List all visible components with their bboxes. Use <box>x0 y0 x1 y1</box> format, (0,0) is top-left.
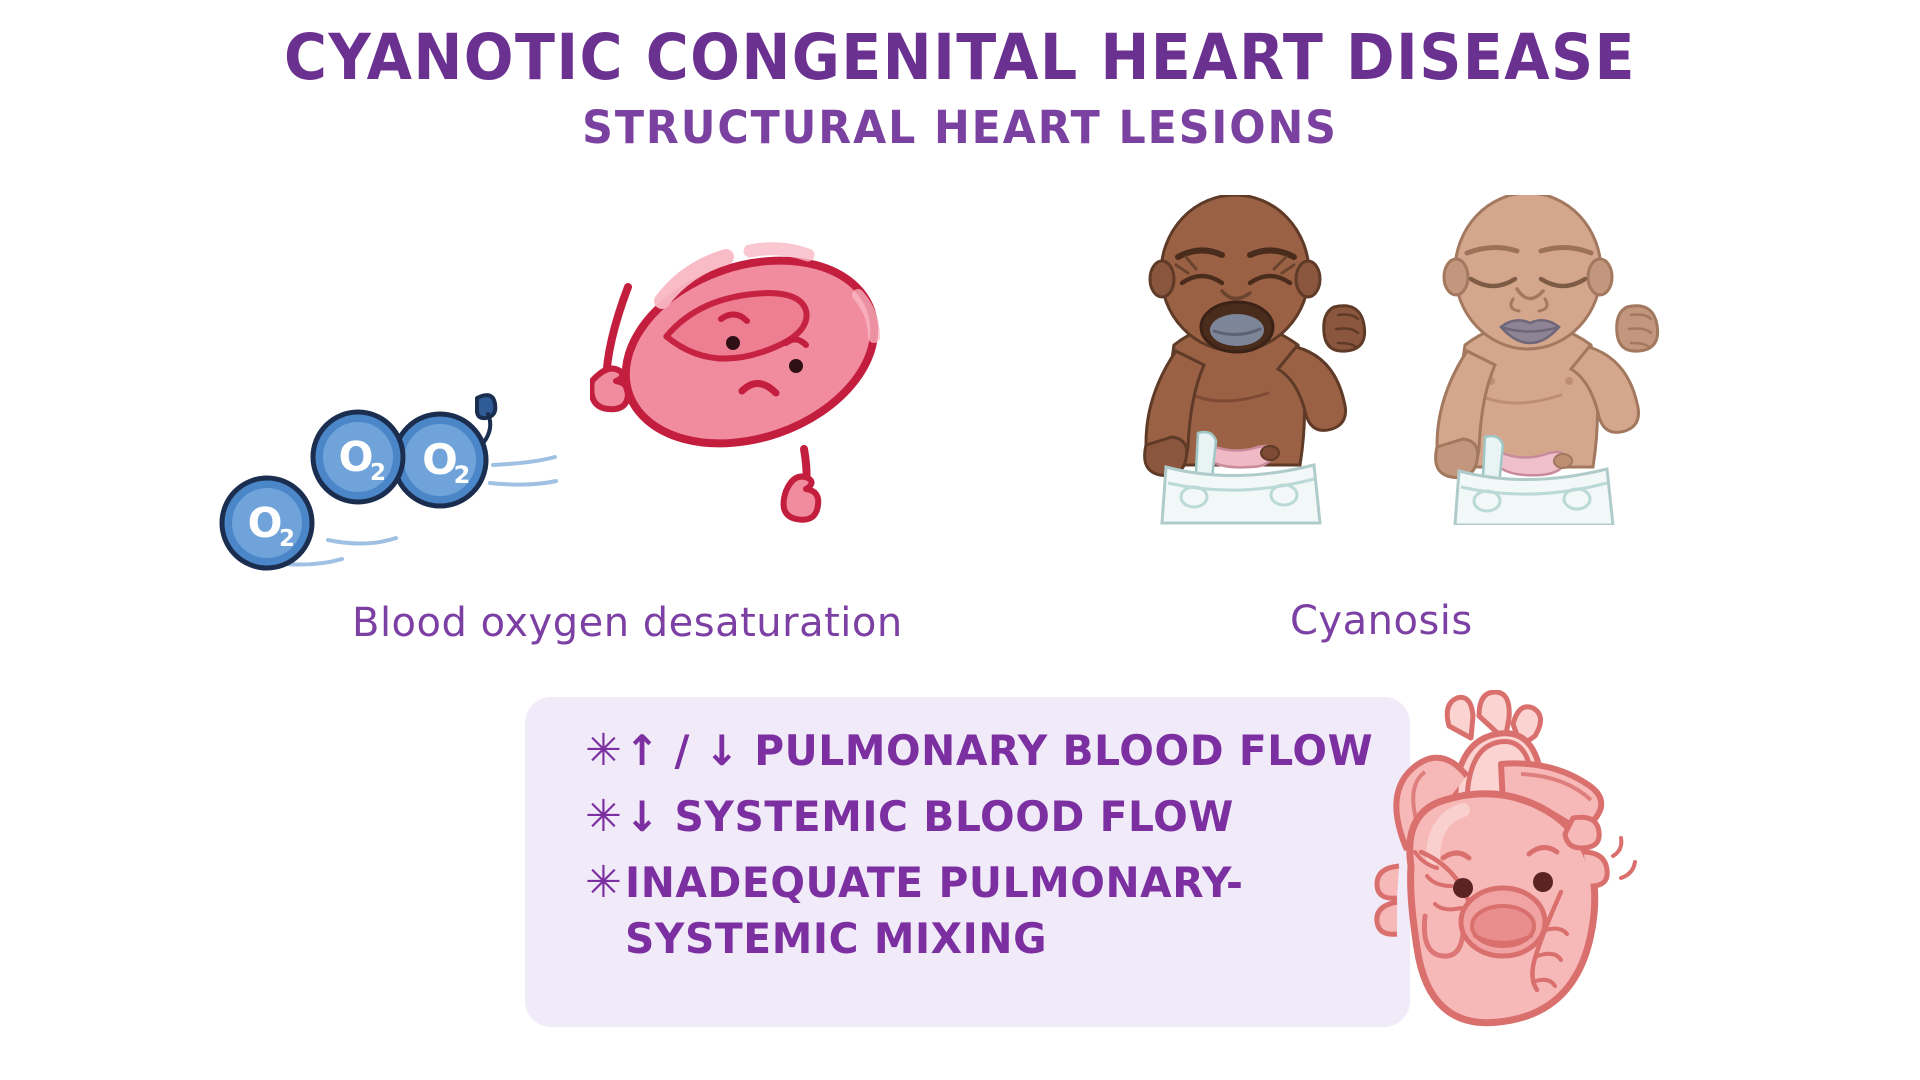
newborn-light-svg <box>1405 195 1675 525</box>
baby-dark-head <box>1150 195 1320 352</box>
oxygen-molecules-svg: O 2 O 2 O 2 <box>200 390 560 590</box>
svg-text:O: O <box>339 433 374 481</box>
key-features-box: ✳ ↑ / ↓ PULMONARY BLOOD FLOW ✳ ↓ SYSTEMI… <box>525 697 1410 1027</box>
key-features-list: ✳ ↑ / ↓ PULMONARY BLOOD FLOW ✳ ↓ SYSTEMI… <box>585 723 1405 977</box>
svg-text:O: O <box>248 499 283 547</box>
red-blood-cell-illustration <box>590 235 910 529</box>
feature-text: ↓ SYSTEMIC BLOOD FLOW <box>625 789 1234 845</box>
heart-body <box>1377 794 1635 1023</box>
caption-cyanosis: Cyanosis <box>1290 598 1473 644</box>
bullet-icon: ✳ <box>585 723 625 779</box>
baby-light-diaper <box>1455 469 1613 525</box>
newborn-dark-skin-illustration <box>1110 195 1380 529</box>
oxygen-molecule-3: O 2 <box>394 395 495 506</box>
feature-item-pulmonary-blood-flow: ✳ ↑ / ↓ PULMONARY BLOOD FLOW <box>585 723 1405 779</box>
oxygen-molecules-illustration: O 2 O 2 O 2 <box>200 390 560 594</box>
oxygen-molecule-1: O 2 <box>222 478 312 568</box>
oxygen-molecule-2: O 2 <box>313 412 403 502</box>
baby-light-head <box>1444 195 1612 349</box>
bullet-icon: ✳ <box>585 789 625 845</box>
feature-text: ↑ / ↓ PULMONARY BLOOD FLOW <box>625 723 1373 779</box>
feature-text-line-2: SYSTEMIC MIXING <box>625 911 1244 967</box>
rbc-left-arm <box>591 287 628 409</box>
svg-text:2: 2 <box>454 461 471 489</box>
red-blood-cell-svg <box>590 235 910 525</box>
svg-text:O: O <box>422 435 458 484</box>
title-block: CYANOTIC CONGENITAL HEART DISEASE STRUCT… <box>0 26 1920 150</box>
anatomical-heart-svg <box>1345 690 1645 1030</box>
feature-item-inadequate-mixing: ✳ INADEQUATE PULMONARY- SYSTEMIC MIXING <box>585 855 1405 967</box>
newborn-light-skin-illustration <box>1405 195 1675 529</box>
svg-text:2: 2 <box>279 526 295 552</box>
anatomical-heart-illustration <box>1345 690 1645 1034</box>
baby-dark-diaper <box>1162 465 1320 523</box>
page-subtitle: STRUCTURAL HEART LESIONS <box>48 105 1872 150</box>
caption-blood-oxygen-desaturation: Blood oxygen desaturation <box>352 600 903 646</box>
feature-item-systemic-blood-flow: ✳ ↓ SYSTEMIC BLOOD FLOW <box>585 789 1405 845</box>
feature-text-line-1: INADEQUATE PULMONARY- <box>625 855 1244 911</box>
page-title: CYANOTIC CONGENITAL HEART DISEASE <box>67 26 1853 89</box>
bullet-icon: ✳ <box>585 855 625 911</box>
rbc-right-arm <box>784 449 819 520</box>
newborn-dark-svg <box>1110 195 1380 525</box>
rbc-body <box>601 235 899 475</box>
svg-text:2: 2 <box>370 460 386 486</box>
